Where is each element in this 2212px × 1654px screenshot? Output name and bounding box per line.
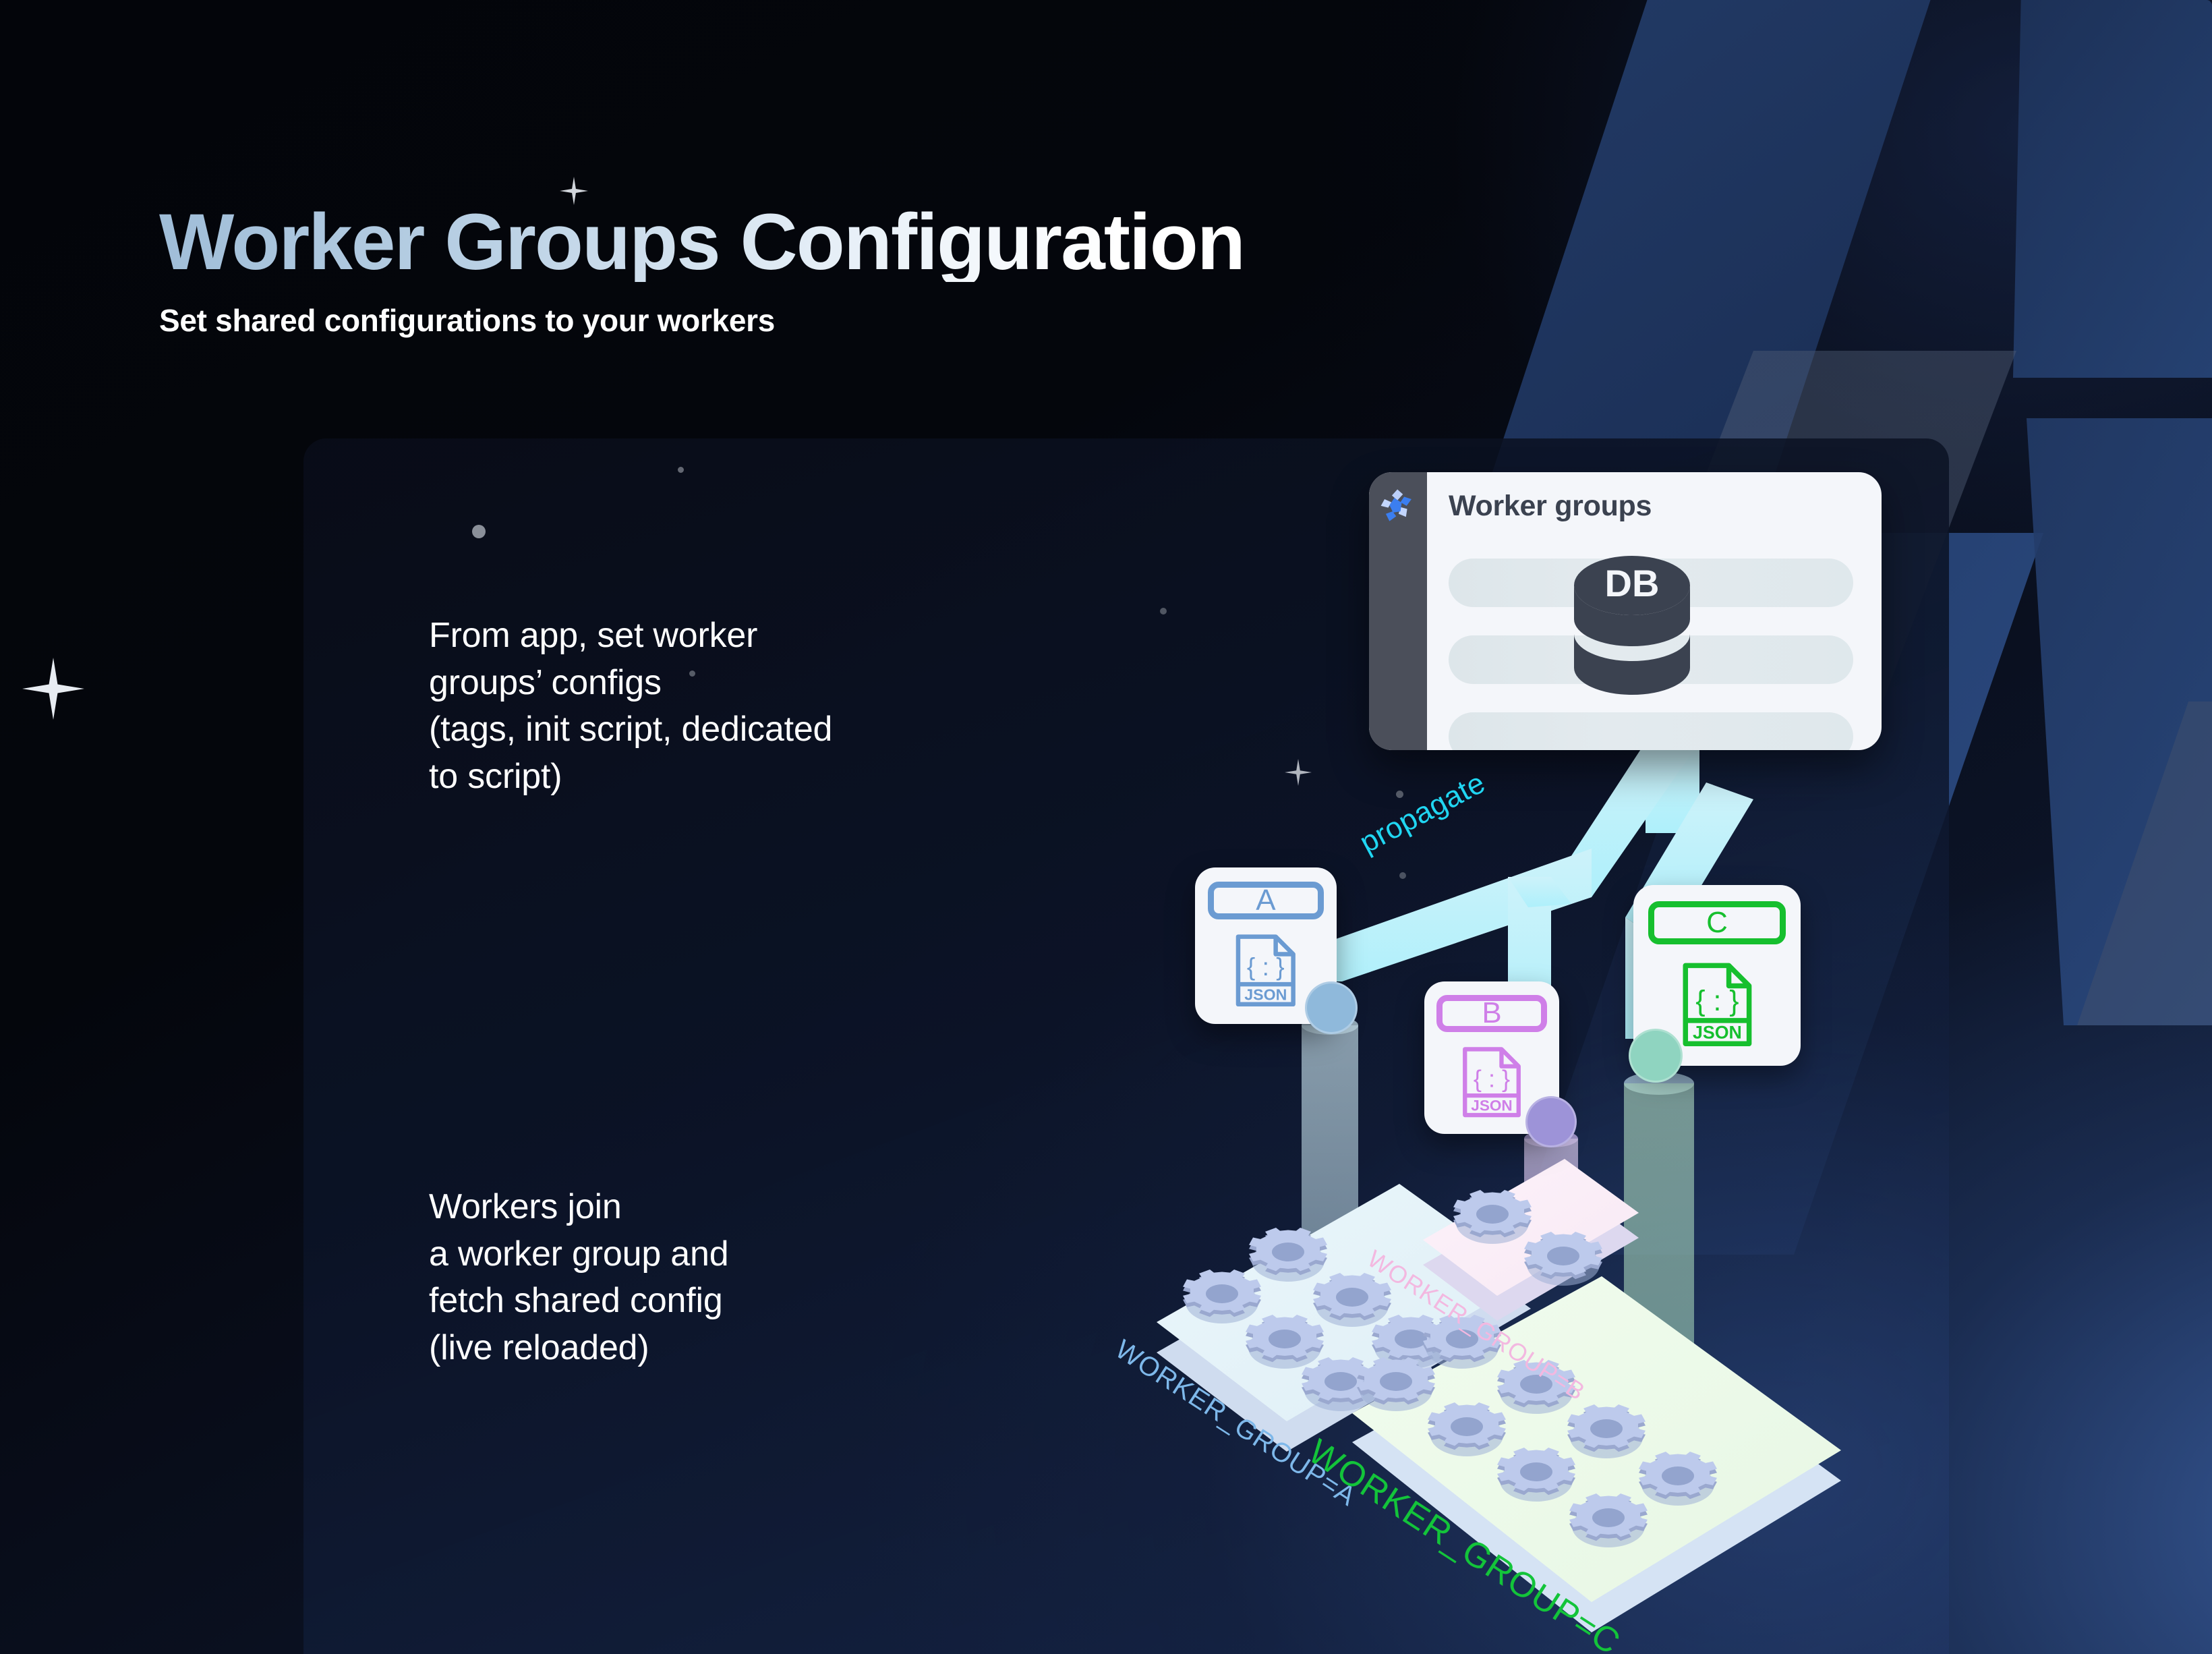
node-a-chip: A <box>1208 882 1324 919</box>
node-b-socket <box>1525 1096 1577 1147</box>
node-a-label: A <box>1256 886 1275 915</box>
node-b-label: B <box>1482 998 1501 1028</box>
svg-text:{ : }: { : } <box>1247 953 1285 981</box>
node-c-chip: C <box>1648 901 1785 944</box>
header: Worker Groups Configuration Set shared c… <box>159 202 1244 339</box>
svg-text:JSON: JSON <box>1471 1097 1512 1114</box>
svg-text:JSON: JSON <box>1244 986 1287 1004</box>
json-file-icon: JSON { : } <box>1670 961 1764 1048</box>
card-row <box>1449 712 1853 750</box>
node-c-label: C <box>1706 908 1728 938</box>
node-a-socket <box>1305 981 1358 1034</box>
node-b-chip: B <box>1436 995 1547 1031</box>
slide-canvas: Worker Groups Configuration Set shared c… <box>0 0 2212 1654</box>
worker-groups-card[interactable]: Worker groups DB <box>1369 472 1882 750</box>
windmill-logo <box>1378 486 1418 525</box>
description-bottom: Workers join a worker group and fetch sh… <box>429 1184 728 1372</box>
page-title: Worker Groups Configuration <box>159 202 1244 282</box>
page-subtitle: Set shared configurations to your worker… <box>159 302 1244 339</box>
json-file-icon: JSON { : } <box>1454 1046 1530 1118</box>
database-icon: DB <box>1571 554 1693 710</box>
node-c-socket <box>1629 1029 1683 1083</box>
description-top: From app, set worker groups’ configs (ta… <box>429 612 832 801</box>
json-file-icon: JSON { : } <box>1226 933 1306 1008</box>
svg-text:{ : }: { : } <box>1695 984 1739 1017</box>
card-title: Worker groups <box>1449 490 1652 523</box>
sparkle-icon <box>22 658 84 720</box>
svg-text:{ : }: { : } <box>1474 1064 1510 1092</box>
db-label: DB <box>1605 562 1660 604</box>
svg-text:JSON: JSON <box>1693 1022 1742 1042</box>
